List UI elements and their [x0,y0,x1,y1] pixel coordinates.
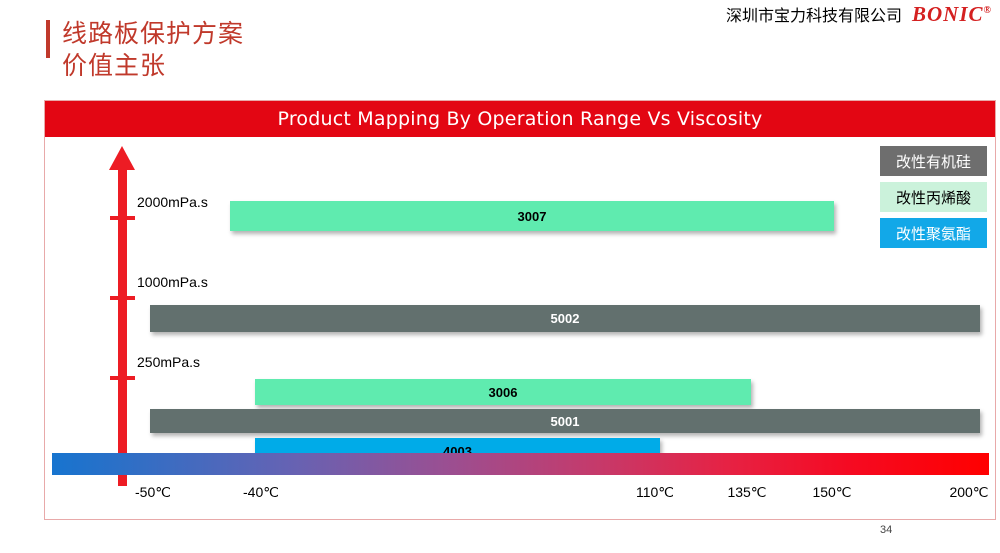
bar-3007[interactable]: 3007 [230,201,834,231]
chart-container: Product Mapping By Operation Range Vs Vi… [44,100,996,520]
bar-label: 5001 [551,414,580,429]
bar-label: 5002 [551,311,580,326]
registered-trademark-icon: ® [984,5,992,16]
temperature-gradient-axis [52,453,989,475]
slide-title-block: 线路板保护方案 价值主张 [46,18,244,82]
legend-item-acrylic[interactable]: 改性丙烯酸 [880,182,987,212]
x-axis-label-110: 110℃ [636,484,674,501]
y-axis-tick [110,216,135,220]
bar-5002[interactable]: 5002 [150,305,980,332]
x-axis-label-minus50: -50℃ [135,484,171,501]
page-number: 34 [880,524,892,536]
y-axis-label-250: 250mPa.s [137,354,200,370]
bar-3006[interactable]: 3006 [255,379,751,405]
x-axis-label-minus40: -40℃ [243,484,279,501]
brand-logo: BONIC® [912,2,992,27]
chart-plot-area: 2000mPa.s 1000mPa.s 250mPa.s 3007 5002 3… [45,138,995,519]
company-name: 深圳市宝力科技有限公司 [726,2,902,26]
bar-5001[interactable]: 5001 [150,409,980,433]
y-axis-tick [110,296,135,300]
legend-label: 改性有机硅 [896,151,971,172]
chart-title: Product Mapping By Operation Range Vs Vi… [278,108,763,130]
legend-label: 改性聚氨酯 [896,223,971,244]
page-title: 线路板保护方案 价值主张 [62,18,244,82]
company-branding: 深圳市宝力科技有限公司 BONIC® [726,2,992,27]
x-axis-label-135: 135℃ [727,484,766,501]
title-accent-bar [46,20,50,58]
x-axis-label-150: 150℃ [812,484,851,501]
y-axis-label-2000: 2000mPa.s [137,194,208,210]
x-axis-label-200: 200℃ [949,484,988,501]
chart-title-bar: Product Mapping By Operation Range Vs Vi… [45,101,995,137]
legend-item-silicone[interactable]: 改性有机硅 [880,146,987,176]
bar-label: 3006 [489,385,518,400]
bar-label: 3007 [518,209,547,224]
y-axis-tick [110,376,135,380]
axis-shaft [118,164,127,486]
y-axis-label-1000: 1000mPa.s [137,274,208,290]
viscosity-axis [109,146,135,486]
legend-item-polyurethane[interactable]: 改性聚氨酯 [880,218,987,248]
chart-legend: 改性有机硅 改性丙烯酸 改性聚氨酯 [880,146,987,254]
legend-label: 改性丙烯酸 [896,187,971,208]
brand-wordmark: BONIC [912,2,984,26]
